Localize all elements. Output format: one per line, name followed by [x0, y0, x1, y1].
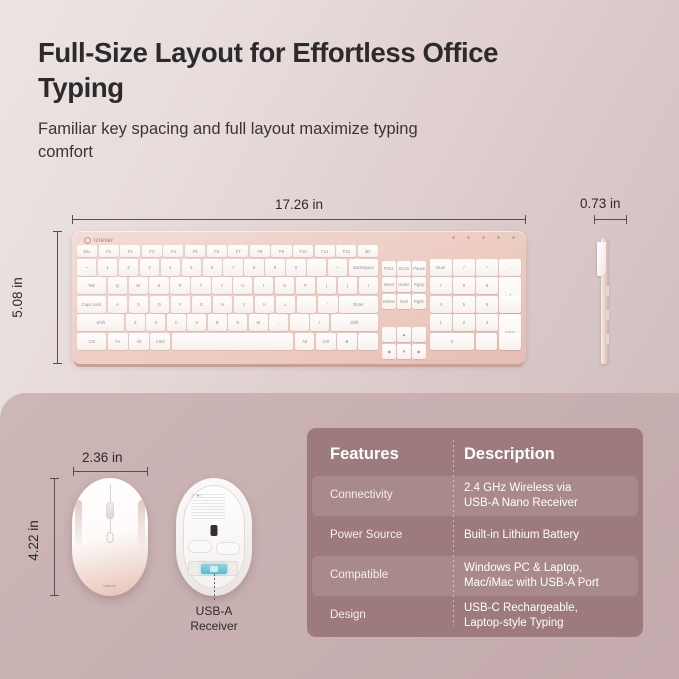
key-num-8[interactable]: 8: [453, 277, 475, 294]
dim-cap-right: [525, 215, 526, 224]
mouse-brand-logo: iclever: [104, 583, 117, 588]
key[interactable]: O: [275, 277, 294, 294]
mouse-right-side-curve: [138, 500, 145, 546]
table-row: Compatible Windows PC & Laptop, Mac/iMac…: [312, 556, 638, 596]
key[interactable]: +: [328, 259, 347, 276]
key-print-screen[interactable]: PrtSc: [382, 261, 396, 276]
key[interactable]: F1: [99, 245, 119, 257]
key-enter[interactable]: Enter: [339, 296, 378, 313]
key[interactable]: F9: [271, 245, 291, 257]
key-home[interactable]: Home: [397, 277, 411, 292]
key[interactable]: I: [254, 277, 273, 294]
key[interactable]: [: [317, 277, 336, 294]
key-menu[interactable]: ❖: [337, 333, 357, 350]
receiver-leader-line: [214, 574, 215, 602]
key-filler[interactable]: [358, 333, 378, 350]
key[interactable]: 4: [161, 259, 180, 276]
arrow-row-up: ▲: [382, 327, 426, 342]
arrow-row-lrd: ◀ ▼ ▶: [382, 344, 426, 359]
key[interactable]: ,: [269, 314, 288, 331]
key[interactable]: H: [213, 296, 232, 313]
key[interactable]: W: [129, 277, 148, 294]
table-header-features: Features: [312, 444, 446, 466]
mouse-width-dimension-line: [73, 471, 148, 472]
dim-cap-left: [72, 215, 73, 224]
key-scroll-lock[interactable]: ScrLk: [397, 261, 411, 276]
key-fn[interactable]: Fn: [108, 333, 128, 350]
table-cell-description: 2.4 GHz Wireless via USB-A Nano Receiver: [446, 481, 638, 512]
key[interactable]: N: [228, 314, 247, 331]
keyboard-side-notch-1: [606, 286, 609, 296]
key[interactable]: Y: [212, 277, 231, 294]
key[interactable]: 1: [98, 259, 117, 276]
keyboard-main-block: Esc F1 F2 F3 F4 F5 F6 F7 F8 F9 F10 F11 F…: [77, 245, 378, 359]
table-header-row: Features Description: [312, 433, 638, 476]
keyboard-keys-area: Esc F1 F2 F3 F4 F5 F6 F7 F8 F9 F10 F11 F…: [77, 245, 521, 359]
key[interactable]: S: [129, 296, 148, 313]
dim-cap-top: [53, 231, 62, 232]
arrow-up-icon[interactable]: ▲: [397, 327, 411, 342]
mouse-height-cap-top: [50, 478, 59, 479]
key[interactable]: 2: [119, 259, 138, 276]
key-num-0[interactable]: 0: [430, 333, 474, 350]
keyboard-shift-row: Shift Z X C V B N M , . / Shift: [77, 314, 378, 331]
key[interactable]: B: [208, 314, 227, 331]
mouse-foot-right: [216, 542, 240, 555]
led-indicator-4-active: [497, 236, 500, 239]
key-num-5[interactable]: 5: [453, 296, 475, 313]
mouse-height-label: 4.22 in: [26, 520, 41, 561]
mouse-top-view: iclever: [72, 478, 148, 596]
nav-row-1: PrtSc ScrLk Pause: [382, 261, 426, 276]
keyboard-brand-text: iclever: [94, 238, 113, 244]
key[interactable]: 5: [182, 259, 201, 276]
key[interactable]: 6: [203, 259, 222, 276]
key[interactable]: /: [310, 314, 329, 331]
table-row: Design USB-C Rechargeable, Laptop-style …: [312, 596, 638, 636]
key[interactable]: ;: [297, 296, 316, 313]
arrow-spacer-left: [382, 327, 396, 342]
numpad-row-1: Num / * -: [430, 259, 521, 276]
thickness-dimension-line: [594, 219, 627, 220]
table-header-description: Description: [446, 443, 638, 465]
key[interactable]: F3: [142, 245, 162, 257]
key-num-1[interactable]: 1: [430, 314, 452, 331]
key[interactable]: E: [149, 277, 168, 294]
numpad-row-3: 4 5 6: [430, 296, 521, 313]
iclever-mark-icon: [84, 237, 91, 244]
key-backspace[interactable]: Backspace: [349, 259, 378, 276]
key[interactable]: F4: [163, 245, 183, 257]
nav-row-2: Insert Home PgUp: [382, 277, 426, 292]
keyboard-function-row: Esc F1 F2 F3 F4 F5 F6 F7 F8 F9 F10 F11 F…: [77, 245, 378, 257]
key-pause[interactable]: Pause: [412, 261, 426, 276]
key-caps-lock[interactable]: Caps Lock: [77, 296, 106, 313]
key[interactable]: A: [108, 296, 127, 313]
keyboard-side-riser: [597, 242, 606, 276]
key[interactable]: D: [150, 296, 169, 313]
key[interactable]: Z: [126, 314, 145, 331]
key-num-decimal[interactable]: .: [476, 333, 498, 350]
key[interactable]: F6: [207, 245, 227, 257]
key[interactable]: J: [234, 296, 253, 313]
keyboard-home-row: Caps Lock A S D F G H J K L ; ' Enter: [77, 296, 378, 313]
key[interactable]: ⌦: [358, 245, 378, 257]
keyboard-height-dimension-line: [57, 231, 58, 364]
key-num-9[interactable]: 9: [476, 277, 498, 294]
mouse-height-cap-bottom: [50, 595, 59, 596]
keyboard-top-view: iclever Esc F1 F2 F3 F4 F5 F6 F7 F8 F9 F…: [72, 231, 526, 364]
mouse-width-cap-right: [147, 467, 148, 476]
key-end[interactable]: End: [397, 294, 411, 309]
usb-receiver-dongle: [201, 564, 227, 574]
keyboard-side-notch-2: [606, 310, 609, 320]
mouse-foot-left: [188, 540, 212, 553]
key-num-7[interactable]: 7: [430, 277, 452, 294]
key[interactable]: ]: [338, 277, 357, 294]
key[interactable]: M: [249, 314, 268, 331]
key[interactable]: T: [191, 277, 210, 294]
key-num-6[interactable]: 6: [476, 296, 498, 313]
key[interactable]: F10: [293, 245, 313, 257]
key[interactable]: F: [171, 296, 190, 313]
key[interactable]: F12: [336, 245, 356, 257]
numpad-row-2: 7 8 9 +: [430, 277, 521, 294]
led-indicator-5: [512, 236, 515, 239]
key[interactable]: \: [359, 277, 378, 294]
key[interactable]: C: [167, 314, 186, 331]
arrow-spacer-right: [412, 327, 426, 342]
key-ctrl-left[interactable]: Ctrl: [77, 333, 106, 350]
receiver-label-line-1: USB-A: [164, 604, 264, 619]
mouse-height-dimension-line: [54, 478, 55, 596]
key-num-3[interactable]: 3: [476, 314, 498, 331]
key-shift-right[interactable]: Shift: [331, 314, 378, 331]
dim-cap-bottom: [53, 363, 62, 364]
keyboard-width-dimension-line: [72, 219, 526, 220]
table-column-divider: [453, 440, 454, 626]
key[interactable]: F8: [250, 245, 270, 257]
key-num-4[interactable]: 4: [430, 296, 452, 313]
numpad-spacer-plus: [499, 296, 521, 313]
key[interactable]: G: [192, 296, 211, 313]
key-num-lock[interactable]: Num: [430, 259, 452, 276]
keyboard-side-view: [597, 238, 611, 364]
key-cmd-left[interactable]: Cmd: [150, 333, 170, 350]
key-page-up[interactable]: PgUp: [412, 277, 426, 292]
key-insert[interactable]: Insert: [382, 277, 396, 292]
key[interactable]: U: [233, 277, 252, 294]
mouse-width-cap-left: [73, 467, 74, 476]
key-multiply[interactable]: *: [476, 259, 498, 276]
key[interactable]: F7: [228, 245, 248, 257]
numpad-row-4: 1 2 3 Enter: [430, 314, 521, 331]
key[interactable]: F5: [185, 245, 205, 257]
numpad-row-5: 0 .: [430, 333, 521, 350]
table-cell-description: Windows PC & Laptop, Mac/iMac with USB-A…: [446, 561, 638, 592]
numpad-spacer-enter: [499, 333, 521, 350]
key[interactable]: F2: [120, 245, 140, 257]
table-cell-feature: Connectivity: [312, 488, 446, 503]
key-spacebar[interactable]: [172, 333, 294, 350]
keyboard-width-label: 17.26 in: [275, 197, 323, 212]
key-tab[interactable]: Tab: [77, 277, 106, 294]
key[interactable]: ~: [77, 259, 96, 276]
key[interactable]: P: [296, 277, 315, 294]
keyboard-side-notch-3: [606, 334, 609, 344]
key-alt-right[interactable]: Alt: [295, 333, 315, 350]
key[interactable]: K: [255, 296, 274, 313]
mouse-left-side-curve: [75, 500, 82, 546]
key-delete[interactable]: Delete: [382, 294, 396, 309]
key-divide[interactable]: /: [453, 259, 475, 276]
key[interactable]: 7: [223, 259, 242, 276]
key[interactable]: X: [146, 314, 165, 331]
table-cell-description: Built-in Lithium Battery: [446, 528, 638, 543]
table-cell-feature: Power Source: [312, 528, 446, 543]
key-num-2[interactable]: 2: [453, 314, 475, 331]
optical-sensor: [211, 525, 218, 536]
key[interactable]: -: [307, 259, 326, 276]
key[interactable]: F11: [315, 245, 335, 257]
key[interactable]: 3: [140, 259, 159, 276]
specs-table: Features Description Connectivity 2.4 GH…: [307, 428, 643, 637]
key[interactable]: ': [318, 296, 337, 313]
thickness-cap-right: [626, 215, 627, 224]
arrow-right-icon[interactable]: ▶: [412, 344, 426, 359]
page-subtitle: Familiar key spacing and full layout max…: [38, 118, 468, 165]
table-cell-description: USB-C Rechargeable, Laptop-style Typing: [446, 601, 638, 632]
key-minus[interactable]: -: [499, 259, 521, 276]
key[interactable]: L: [276, 296, 295, 313]
receiver-callout-label: USB-A Receiver: [164, 604, 264, 635]
keyboard-numpad: Num / * - 7 8 9 + 4 5 6 1 2 3 Enter: [430, 245, 521, 359]
nav-row-3: Delete End PgDn: [382, 294, 426, 309]
keyboard-number-row: ~ 1 2 3 4 5 6 7 8 9 0 - + Backspace: [77, 259, 378, 276]
key-page-down[interactable]: PgDn: [412, 294, 426, 309]
keyboard-bottom-row: Ctrl Fn Alt Cmd Alt Ctrl ❖: [77, 333, 378, 350]
receiver-label-line-2: Receiver: [164, 619, 264, 634]
led-indicator-3: [482, 236, 485, 239]
page-title: Full-Size Layout for Effortless Office T…: [38, 36, 508, 105]
keyboard-qwerty-row: Tab Q W E R T Y U I O P [ ] \: [77, 277, 378, 294]
led-indicator-2: [467, 236, 470, 239]
dpi-button: [107, 532, 114, 543]
key[interactable]: V: [187, 314, 206, 331]
thickness-cap-left: [594, 215, 595, 224]
certification-marks-icon: ○ ●○: [192, 493, 202, 499]
arrow-left-icon[interactable]: ◀: [382, 344, 396, 359]
led-indicator-group: [452, 236, 515, 239]
table-row: Power Source Built-in Lithium Battery: [312, 516, 638, 556]
key[interactable]: Esc: [77, 245, 97, 257]
mouse-width-label: 2.36 in: [82, 450, 123, 465]
keyboard-height-label: 5.08 in: [10, 277, 25, 318]
keyboard-nav-cluster: PrtSc ScrLk Pause Insert Home PgUp Delet…: [382, 245, 426, 359]
table-cell-feature: Compatible: [312, 568, 446, 583]
key[interactable]: R: [170, 277, 189, 294]
keyboard-thickness-label: 0.73 in: [580, 196, 621, 211]
key[interactable]: 0: [286, 259, 305, 276]
scroll-wheel: [106, 502, 114, 519]
arrow-down-icon[interactable]: ▼: [397, 344, 411, 359]
key[interactable]: Q: [108, 277, 127, 294]
key[interactable]: 9: [265, 259, 284, 276]
key-shift-left[interactable]: Shift: [77, 314, 124, 331]
keyboard-brand-logo: iclever: [84, 237, 113, 244]
key-ctrl-right[interactable]: Ctrl: [316, 333, 336, 350]
led-indicator-1: [452, 236, 455, 239]
table-cell-feature: Design: [312, 608, 446, 623]
key[interactable]: .: [290, 314, 309, 331]
key[interactable]: 8: [244, 259, 263, 276]
key-alt-left[interactable]: Alt: [129, 333, 149, 350]
table-row: Connectivity 2.4 GHz Wireless via USB-A …: [312, 476, 638, 516]
